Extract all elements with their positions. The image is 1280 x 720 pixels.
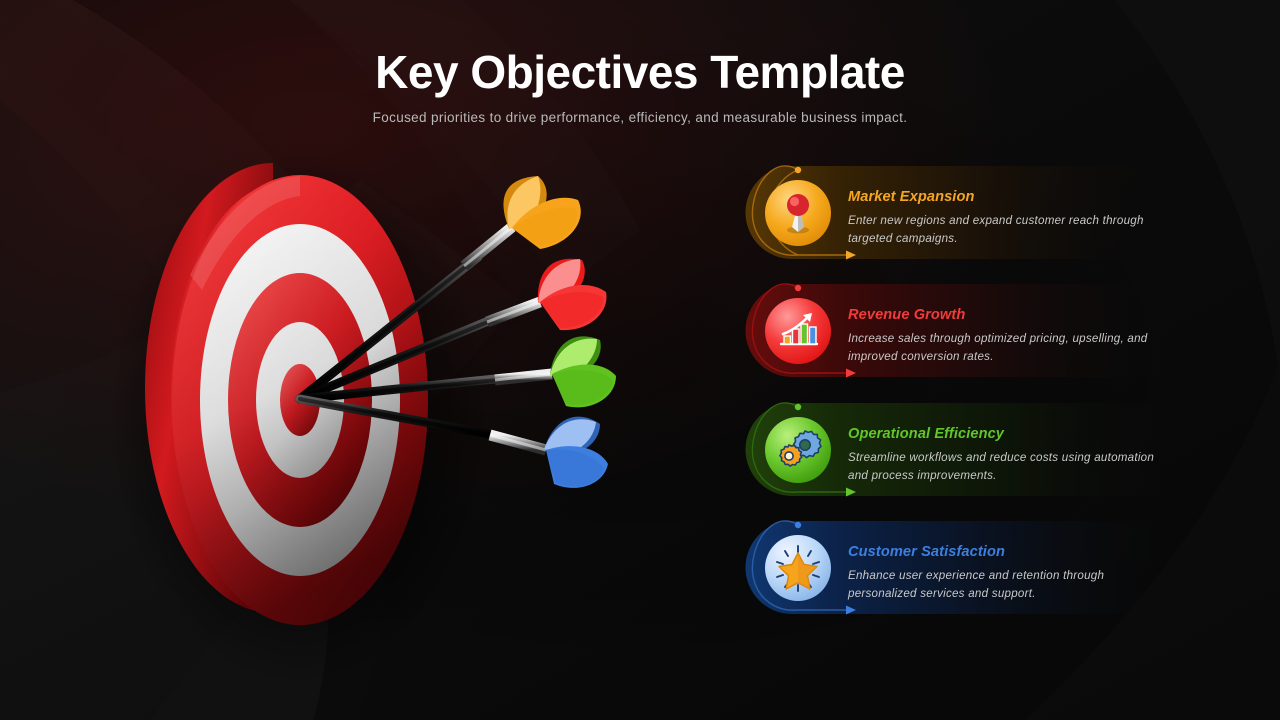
slide-header: Key Objectives Template Focused prioriti… <box>0 46 1280 125</box>
gears-icon <box>763 415 833 485</box>
objectives-list: Market Expansion Enter new regions and e… <box>740 160 1180 660</box>
slide-canvas: Key Objectives Template Focused prioriti… <box>0 0 1280 720</box>
card-title: Customer Satisfaction <box>848 544 1158 560</box>
objective-card-customer-satisfaction[interactable]: Customer Satisfaction Enhance user exper… <box>740 515 1170 620</box>
objective-card-revenue-growth[interactable]: Revenue Growth Increase sales through op… <box>740 278 1170 383</box>
page-title: Key Objectives Template <box>0 46 1280 99</box>
growth-chart-icon <box>763 296 833 366</box>
card-description: Enter new regions and expand customer re… <box>848 212 1158 247</box>
card-title: Operational Efficiency <box>848 426 1158 442</box>
page-subtitle: Focused priorities to drive performance,… <box>0 110 1280 125</box>
map-pin-icon <box>763 178 833 248</box>
card-description: Increase sales through optimized pricing… <box>848 330 1158 365</box>
star-sparkle-icon <box>763 533 833 603</box>
objective-card-operational-efficiency[interactable]: Operational Efficiency Streamline workfl… <box>740 397 1170 502</box>
card-description: Enhance user experience and retention th… <box>848 567 1158 602</box>
objective-card-market-expansion[interactable]: Market Expansion Enter new regions and e… <box>740 160 1170 265</box>
card-title: Revenue Growth <box>848 307 1158 323</box>
card-description: Streamline workflows and reduce costs us… <box>848 449 1158 484</box>
card-title: Market Expansion <box>848 189 1158 205</box>
